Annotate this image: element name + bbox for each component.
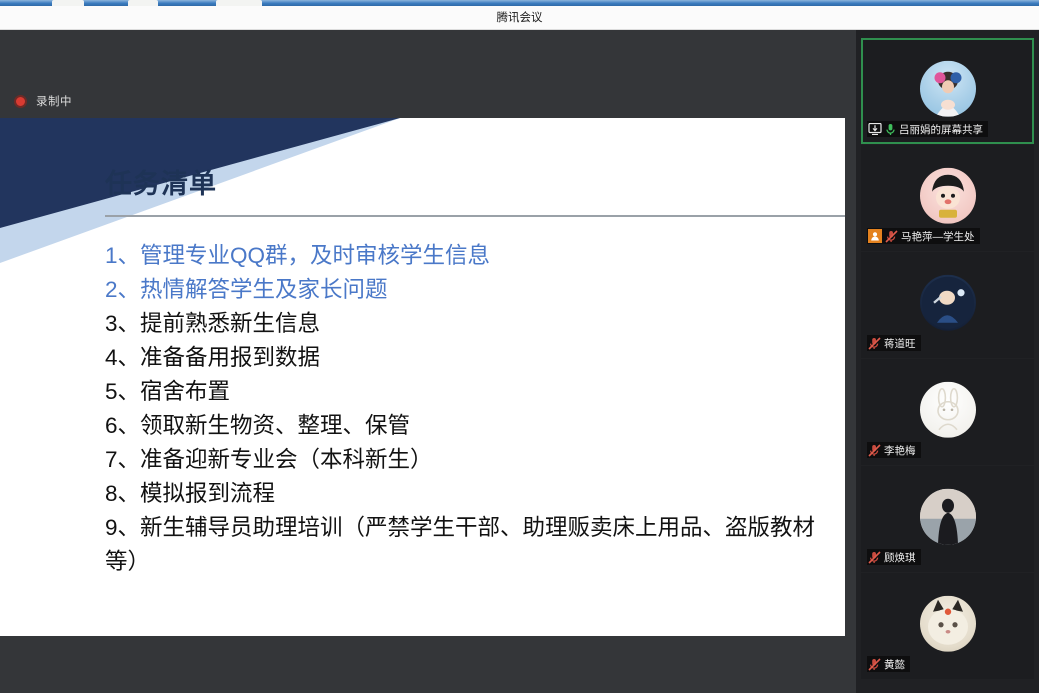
avatar-white-rabbit	[920, 382, 976, 438]
avatar	[920, 596, 976, 652]
participant-name: 黄懿	[884, 657, 905, 672]
list-item: 1、管理专业QQ群，及时审核学生信息	[105, 239, 825, 273]
window-title: 腾讯会议	[0, 6, 1039, 30]
list-item: 4、准备备用报到数据	[105, 341, 825, 375]
participant-name: 吕丽娟的屏幕共享	[899, 122, 983, 137]
avatar-chibi	[920, 168, 976, 224]
list-item-number: 5、	[105, 379, 140, 404]
avatar	[920, 275, 976, 331]
participant-namebar: 蒋道旺	[867, 335, 921, 351]
list-item: 6、领取新生物资、整理、保管	[105, 409, 825, 443]
participant-tile-4[interactable]: 顾焕琪	[861, 466, 1034, 572]
list-item: 2、热情解答学生及家长问题	[105, 273, 825, 307]
avatar-silhouette	[920, 489, 976, 545]
list-item: 7、准备迎新专业会（本科新生）	[105, 443, 825, 477]
host-badge-icon	[868, 229, 882, 243]
participant-name: 马艳萍—学生处	[901, 229, 975, 244]
avatar-dark-sphere	[920, 275, 976, 331]
participant-tile-0[interactable]: 吕丽娟的屏幕共享	[861, 38, 1034, 144]
list-item-number: 3、	[105, 311, 140, 336]
list-item: 3、提前熟悉新生信息	[105, 307, 825, 341]
list-item-text: 准备备用报到数据	[140, 345, 320, 370]
list-item-text: 模拟报到流程	[140, 481, 275, 506]
list-item-number: 7、	[105, 447, 140, 472]
list-item-text: 领取新生物资、整理、保管	[140, 413, 410, 438]
participant-tile-1[interactable]: 马艳萍—学生处	[861, 145, 1034, 251]
list-item: 5、宿舍布置	[105, 375, 825, 409]
microphone-icon	[885, 123, 896, 136]
list-item-text: 热情解答学生及家长问题	[140, 277, 388, 302]
list-item-number: 4、	[105, 345, 140, 370]
microphone-muted-icon	[868, 658, 881, 671]
list-item-number: 8、	[105, 481, 140, 506]
avatar	[920, 382, 976, 438]
slide-task-list: 1、管理专业QQ群，及时审核学生信息 2、热情解答学生及家长问题 3、提前熟悉新…	[105, 239, 825, 579]
recording-label: 录制中	[36, 93, 72, 109]
participant-namebar: 黄懿	[867, 656, 910, 672]
list-item-text: 宿舍布置	[140, 379, 230, 404]
participant-namebar: 李艳梅	[867, 442, 921, 458]
recording-indicator: 录制中	[14, 93, 72, 109]
participant-name: 蒋道旺	[884, 336, 916, 351]
avatar	[920, 489, 976, 545]
participant-name: 李艳梅	[884, 443, 916, 458]
recording-dot-icon	[14, 95, 27, 108]
screen-share-icon	[868, 123, 882, 135]
microphone-muted-icon	[868, 337, 881, 350]
window-titlebar[interactable]: 腾讯会议	[0, 6, 1039, 30]
participant-namebar: 吕丽娟的屏幕共享	[867, 121, 988, 137]
list-item-number: 1、	[105, 243, 140, 268]
list-item-text: 新生辅导员助理培训（严禁学生干部、助理贩卖床上用品、盗版教材等）	[105, 515, 815, 574]
list-item: 8、模拟报到流程	[105, 477, 825, 511]
meeting-stage: 录制中 任务清单 1、管理专业QQ群，及时审核学生信息 2、热情解答学生及家长问…	[0, 30, 856, 693]
avatar-white-cat	[920, 596, 976, 652]
list-item: 9、新生辅导员助理培训（严禁学生干部、助理贩卖床上用品、盗版教材等）	[105, 511, 825, 579]
shared-slide[interactable]: 任务清单 1、管理专业QQ群，及时审核学生信息 2、热情解答学生及家长问题 3、…	[0, 118, 845, 636]
slide-title: 任务清单	[105, 162, 217, 201]
avatar	[920, 168, 976, 224]
list-item-number: 9、	[105, 515, 140, 540]
participant-name: 顾焕琪	[884, 550, 916, 565]
list-item-number: 2、	[105, 277, 140, 302]
participant-tile-3[interactable]: 李艳梅	[861, 359, 1034, 465]
participant-rail[interactable]: 吕丽娟的屏幕共享	[856, 30, 1039, 693]
slide-title-rule	[105, 215, 845, 217]
participant-tile-2[interactable]: 蒋道旺	[861, 252, 1034, 358]
list-item-text: 提前熟悉新生信息	[140, 311, 320, 336]
microphone-muted-icon	[868, 444, 881, 457]
avatar-girl-blue	[920, 61, 976, 117]
list-item-text: 管理专业QQ群，及时审核学生信息	[140, 243, 490, 268]
participant-namebar: 顾焕琪	[867, 549, 921, 565]
participant-namebar: 马艳萍—学生处	[867, 228, 980, 244]
participant-tile-5[interactable]: 黄懿	[861, 573, 1034, 679]
microphone-muted-icon	[868, 551, 881, 564]
microphone-muted-icon	[885, 230, 898, 243]
avatar	[920, 61, 976, 117]
list-item-text: 准备迎新专业会（本科新生）	[140, 447, 433, 472]
list-item-number: 6、	[105, 413, 140, 438]
